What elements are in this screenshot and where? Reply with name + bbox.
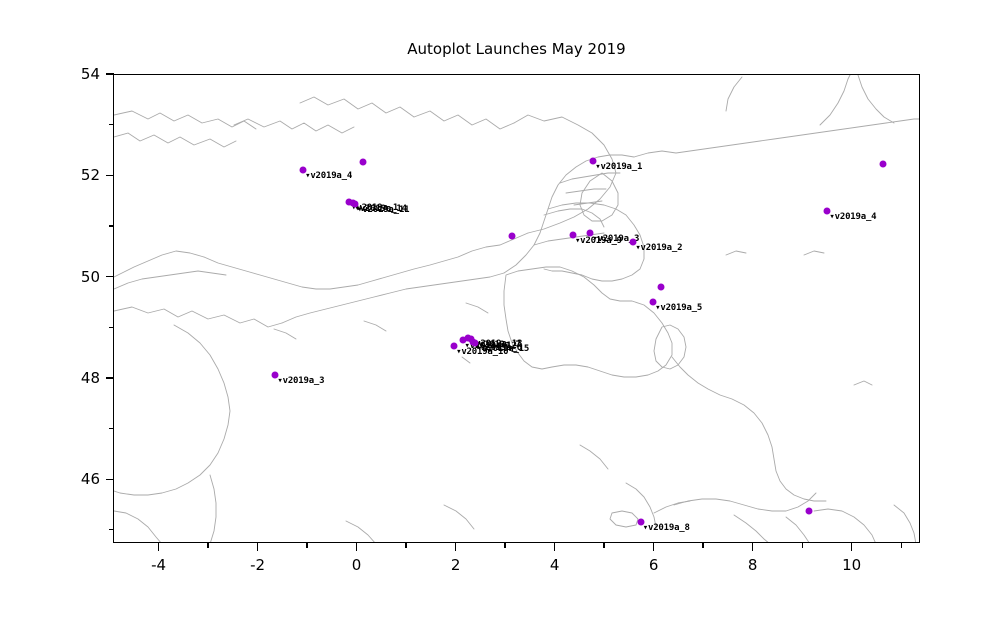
- y-tick-major: [106, 276, 114, 277]
- x-tick-minor: [504, 543, 505, 548]
- x-tick-major: [752, 543, 753, 551]
- scatter-point[interactable]: [658, 283, 665, 290]
- x-tick-major: [851, 543, 852, 551]
- x-tick-major: [653, 543, 654, 551]
- x-tick-label: 8: [748, 556, 758, 574]
- x-tick-minor: [207, 543, 208, 548]
- scatter-point-label: ▾v2019a_4: [829, 212, 876, 222]
- y-tick-minor: [109, 124, 114, 125]
- y-tick-label: 54: [0, 65, 100, 83]
- scatter-point-label: ▾v2019a_15: [477, 344, 529, 354]
- scatter-point-label: ▾v2019a_8: [643, 523, 690, 533]
- x-tick-label: 2: [451, 556, 461, 574]
- scatter-point-label: ▾v2019a_4: [305, 171, 352, 181]
- y-tick-minor: [109, 327, 114, 328]
- x-tick-minor: [702, 543, 703, 548]
- y-tick-label: 48: [0, 369, 100, 387]
- y-tick-major: [106, 377, 114, 378]
- page-title: Autoplot Launches May 2019: [113, 40, 920, 58]
- x-tick-minor: [405, 543, 406, 548]
- y-tick-major: [106, 175, 114, 176]
- x-tick-minor: [802, 543, 803, 548]
- scatter-point[interactable]: [806, 507, 813, 514]
- y-tick-minor: [109, 529, 114, 530]
- x-tick-label: -4: [151, 556, 166, 574]
- y-axis-labels: 4648505254: [0, 0, 100, 633]
- x-tick-minor: [603, 543, 604, 548]
- x-tick-label: 10: [842, 556, 861, 574]
- x-tick-major: [455, 543, 456, 551]
- x-tick-label: 4: [550, 556, 560, 574]
- scatter-point-label: ▾v2019a_5: [655, 303, 702, 313]
- y-tick-minor: [109, 225, 114, 226]
- coastline-basemap: [114, 75, 920, 543]
- x-tick-minor: [901, 543, 902, 548]
- scatter-point-label: ▾v2019a_11: [357, 205, 409, 215]
- x-tick-major: [356, 543, 357, 551]
- x-tick-minor: [306, 543, 307, 548]
- scatter-point[interactable]: [880, 160, 887, 167]
- scatter-point-label: ▾v2019a_3: [277, 376, 324, 386]
- scatter-point[interactable]: [359, 158, 366, 165]
- plot-area[interactable]: ▾v2019a_4▾v2019a_1▾v2019a_14▾v2019a_11▾v…: [113, 74, 920, 543]
- x-tick-label: -2: [250, 556, 265, 574]
- x-tick-label: 6: [649, 556, 659, 574]
- scatter-point[interactable]: [508, 232, 515, 239]
- y-tick-label: 46: [0, 470, 100, 488]
- y-tick-label: 52: [0, 166, 100, 184]
- x-tick-major: [554, 543, 555, 551]
- x-tick-label: 0: [352, 556, 362, 574]
- y-tick-major: [106, 479, 114, 480]
- x-tick-major: [257, 543, 258, 551]
- scatter-point-label: ▾v2019a_1: [595, 162, 642, 172]
- x-tick-major: [158, 543, 159, 551]
- y-tick-minor: [109, 428, 114, 429]
- figure-canvas: Autoplot Launches May 2019: [0, 0, 1003, 633]
- scatter-point-label: ▾v2019a_2: [635, 243, 682, 253]
- y-tick-label: 50: [0, 268, 100, 286]
- y-tick-major: [106, 73, 114, 74]
